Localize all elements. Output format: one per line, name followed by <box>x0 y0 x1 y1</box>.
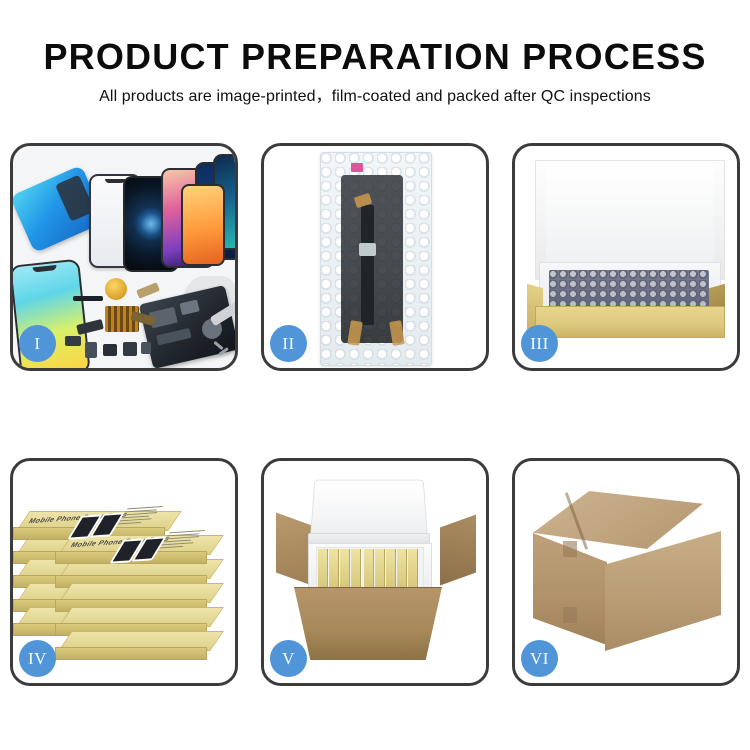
kraft-box <box>65 607 215 631</box>
step-panel-5: V <box>261 458 489 686</box>
part-speaker-coil <box>105 278 127 300</box>
kraft-boxes-inside <box>318 549 420 589</box>
step-panel-4: Mobile Phone Spare Parts Mobile Phone Sp… <box>10 458 238 686</box>
step-panel-2: II <box>261 143 489 371</box>
screws-icon <box>213 342 233 356</box>
part-shield-plate <box>65 336 81 346</box>
page-title: PRODUCT PREPARATION PROCESS <box>0 36 750 78</box>
lcd-flex-cable <box>361 205 374 325</box>
step-panel-3: III <box>512 143 740 371</box>
carton-flap-right <box>440 514 476 585</box>
step-badge-5: V <box>270 640 307 677</box>
part-antenna-strip <box>73 296 103 301</box>
carton-body <box>294 587 442 660</box>
bubble-wrapped-contents <box>549 270 709 310</box>
kraft-box <box>65 631 215 655</box>
step-badge-3: III <box>521 325 558 362</box>
part-vibrator <box>103 344 117 356</box>
step-badge-6: VI <box>521 640 558 677</box>
carton-flap-left <box>276 512 312 585</box>
carton-top-face <box>533 491 703 549</box>
kraft-box-stack: Mobile Phone Spare Parts Mobile Phone Sp… <box>19 485 229 671</box>
part-camera-module <box>85 342 97 358</box>
carton-front-face <box>605 531 721 651</box>
bubble-wrap-bag <box>320 152 432 366</box>
header: PRODUCT PREPARATION PROCESS All products… <box>0 0 750 118</box>
part-sim-tray <box>141 342 151 354</box>
step-badge-4: IV <box>19 640 56 677</box>
step-badge-2: II <box>270 325 307 362</box>
part-flex-cable-gold <box>136 282 160 299</box>
carton-tape-lower <box>563 607 577 623</box>
phone-screen-orange <box>181 184 225 266</box>
box-front-panel <box>535 306 725 338</box>
step-panel-1: I <box>10 143 238 371</box>
page-subtitle: All products are image-printed，film-coat… <box>0 82 750 106</box>
kraft-box <box>65 583 215 607</box>
part-speaker-module <box>123 342 137 356</box>
step-panel-6: VI <box>512 458 740 686</box>
qc-label <box>351 163 363 172</box>
carton-tape-upper <box>563 541 577 557</box>
step-badge-1: I <box>19 325 56 362</box>
product-preparation-infographic: PRODUCT PREPARATION PROCESS All products… <box>0 0 750 750</box>
steps-grid: I II <box>0 132 750 692</box>
